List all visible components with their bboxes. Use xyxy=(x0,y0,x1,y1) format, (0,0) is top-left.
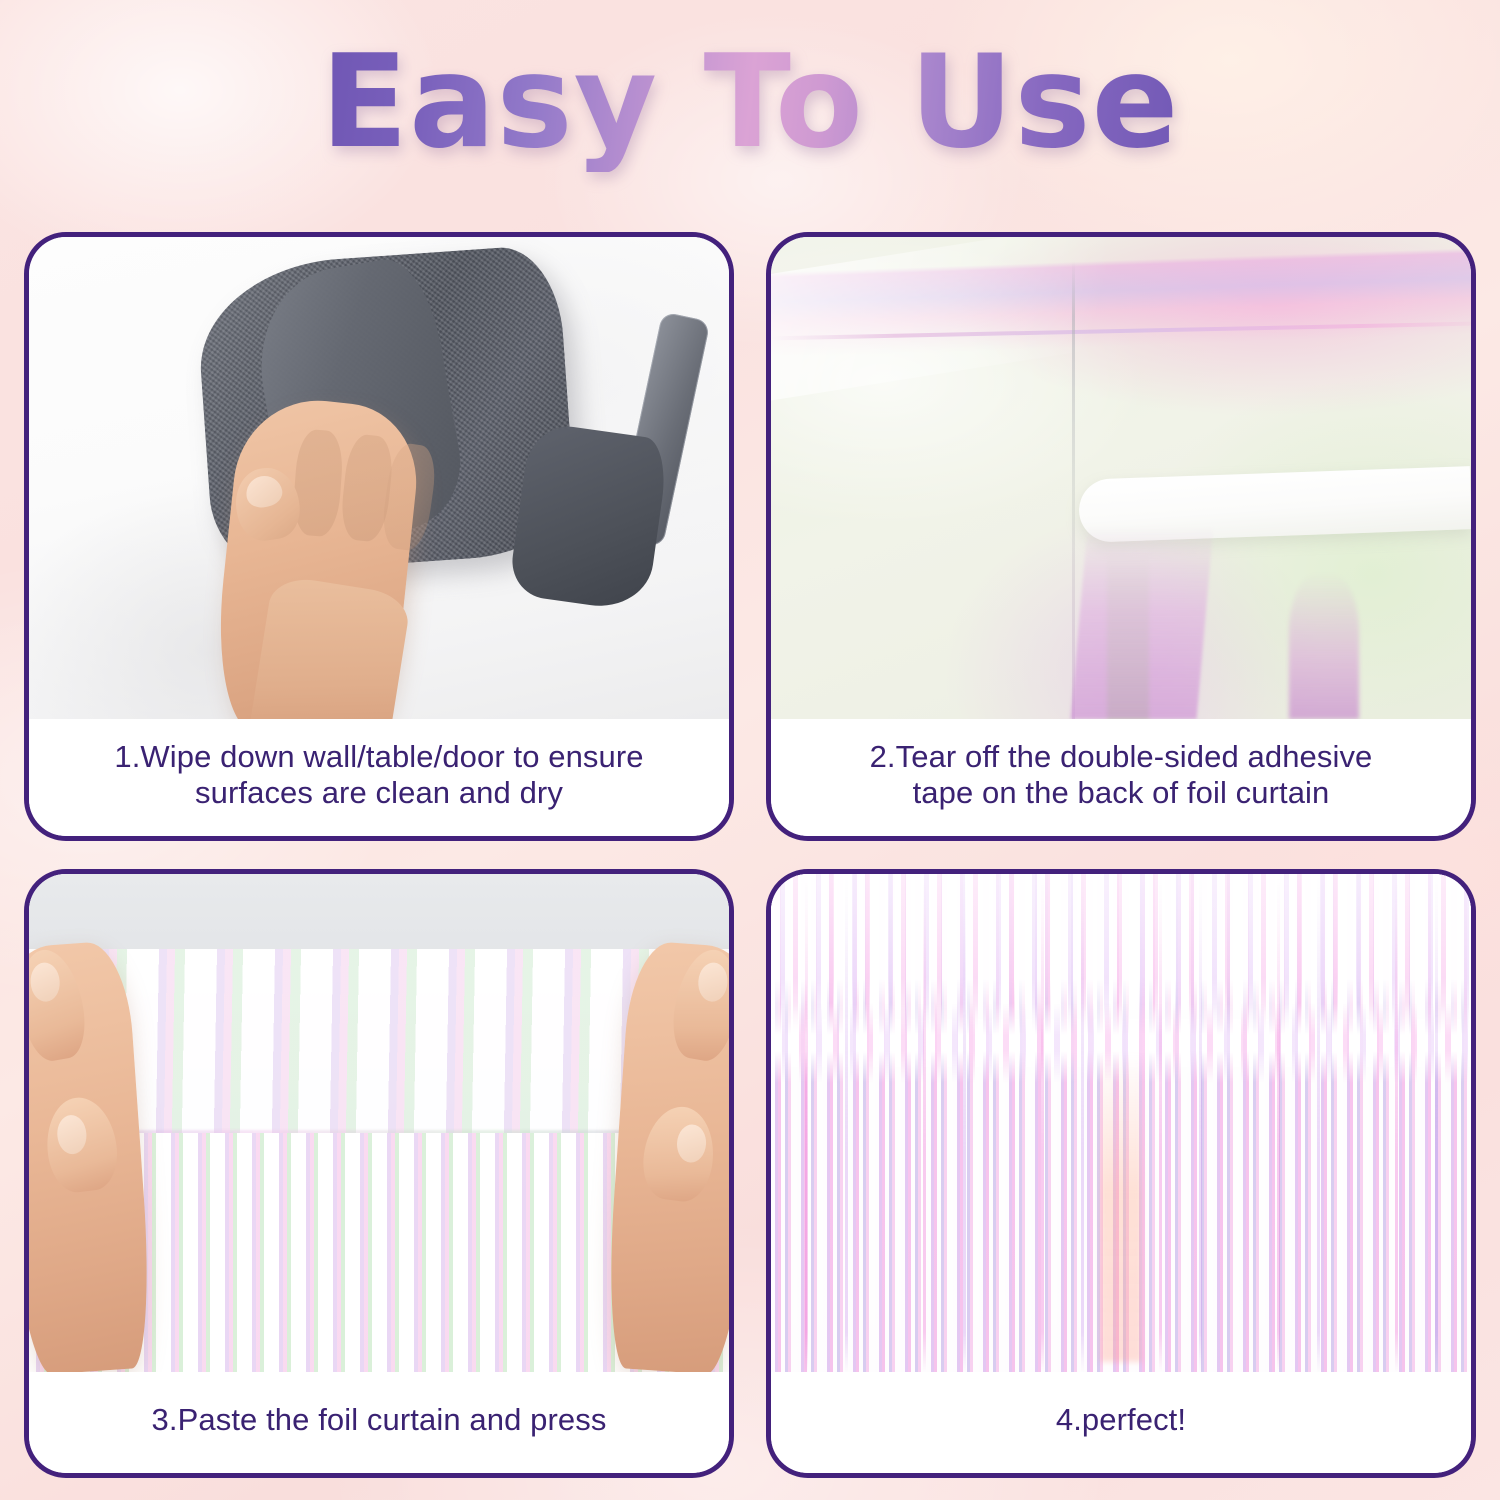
page-title: Easy To Use xyxy=(321,34,1180,172)
step-4-photo xyxy=(771,874,1471,1372)
right-hand-finger-upper xyxy=(666,945,729,1065)
step-card-3: 3.Paste the foil curtain and press xyxy=(24,869,734,1478)
step-3-photo xyxy=(29,874,729,1372)
step-1-photo xyxy=(29,237,729,719)
forearm xyxy=(248,574,412,719)
step-2-photo xyxy=(771,237,1471,719)
step-2-caption-line-2: tape on the back of foil curtain xyxy=(870,775,1373,811)
photo-finished-curtain-illustration xyxy=(771,874,1471,1372)
step-card-1: 1.Wipe down wall/table/door to ensure su… xyxy=(24,232,734,841)
curtain-center-glow xyxy=(1100,1053,1142,1362)
foil-sheen-top xyxy=(771,237,1198,409)
step-4-caption-line-1: 4.perfect! xyxy=(1056,1402,1186,1438)
cloth-tail xyxy=(508,421,671,612)
step-card-4: 4.perfect! xyxy=(766,869,1476,1478)
step-4-caption: 4.perfect! xyxy=(771,1372,1471,1473)
step-2-caption-line-1: 2.Tear off the double-sided adhesive xyxy=(870,739,1373,775)
step-1-caption: 1.Wipe down wall/table/door to ensure su… xyxy=(29,719,729,836)
left-hand-finger-upper xyxy=(29,945,92,1065)
step-card-2: 2.Tear off the double-sided adhesive tap… xyxy=(766,232,1476,841)
foil-crease-vertical xyxy=(1072,261,1075,719)
photo-adhesive-tape-illustration xyxy=(771,237,1471,719)
photo-paste-curtain-illustration xyxy=(29,874,729,1372)
photo-wipe-wall-illustration xyxy=(29,237,729,719)
foil-pink-reflection-left xyxy=(1071,526,1214,719)
curtain-top-shine xyxy=(771,874,1471,1003)
steps-grid: 1.Wipe down wall/table/door to ensure su… xyxy=(24,232,1476,1478)
page-title-container: Easy To Use xyxy=(0,34,1500,172)
foil-pink-reflection-right xyxy=(1289,574,1359,719)
step-3-caption: 3.Paste the foil curtain and press xyxy=(29,1372,729,1473)
wall-surface xyxy=(29,874,729,959)
step-2-caption: 2.Tear off the double-sided adhesive tap… xyxy=(771,719,1471,836)
step-3-caption-line-1: 3.Paste the foil curtain and press xyxy=(152,1402,607,1438)
step-1-caption-line-2: surfaces are clean and dry xyxy=(114,775,643,811)
step-1-caption-line-1: 1.Wipe down wall/table/door to ensure xyxy=(114,739,643,775)
infographic-page: Easy To Use xyxy=(0,0,1500,1500)
